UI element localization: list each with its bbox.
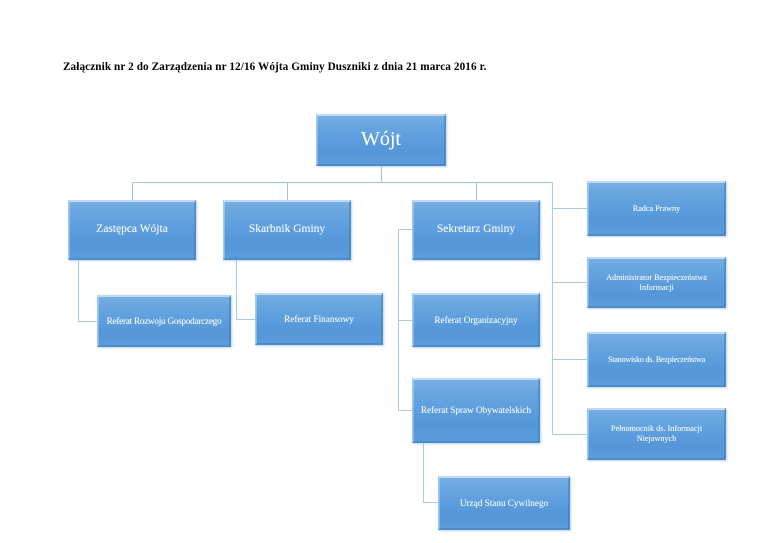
node-referat-finansowy[interactable]: Referat Finansowy <box>255 293 383 345</box>
node-referat-rozwoju-gospodarczego[interactable]: Referat Rozwoju Gospodarczego <box>97 295 231 347</box>
node-urzad-stanu-cywilnego-label: Urząd Stanu Cywilnego <box>439 498 569 509</box>
node-administrator-bezpieczenstwa-informacji[interactable]: Administrator Bezpieczeństwa Informacji <box>587 257 726 308</box>
node-referat-organizacyjny-label: Referat Organizacyjny <box>413 315 539 326</box>
edge-zastepca-rrg <box>79 261 98 322</box>
node-radca-prawny-label: Radca Prawny <box>588 204 725 214</box>
node-referat-spraw-obywatelskich[interactable]: Referat Spraw Obywatelskich <box>412 378 540 443</box>
page-canvas: Załącznik nr 2 do Zarządzenia nr 12/16 W… <box>0 0 768 543</box>
node-wojt[interactable]: Wójt <box>316 114 446 166</box>
edge-rso-usc <box>424 444 439 503</box>
node-referat-finansowy-label: Referat Finansowy <box>256 314 382 325</box>
node-referat-organizacyjny[interactable]: Referat Organizacyjny <box>412 293 540 347</box>
node-pelnomocnik-ds-informacji-niejawnych-label: Pełnomocnik ds. Informacji Niejawnych <box>588 424 725 443</box>
node-pelnomocnik-ds-informacji-niejawnych[interactable]: Pełnomocnik ds. Informacji Niejawnych <box>587 408 726 460</box>
node-sekretarz-gminy-label: Sekretarz Gminy <box>413 223 539 237</box>
node-referat-rozwoju-gospodarczego-label: Referat Rozwoju Gospodarczego <box>98 316 230 327</box>
node-stanowisko-ds-bezpieczenstwa-label: Stanowisko ds. Bezpieczeństwa <box>588 355 725 365</box>
node-sekretarz-gminy[interactable]: Sekretarz Gminy <box>412 200 540 260</box>
edge-skarbnik-rf <box>237 261 256 320</box>
node-radca-prawny[interactable]: Radca Prawny <box>587 181 726 236</box>
node-skarbnik-gminy[interactable]: Skarbnik Gminy <box>223 200 351 260</box>
node-referat-spraw-obywatelskich-label: Referat Spraw Obywatelskich <box>413 405 539 416</box>
node-administrator-bezpieczenstwa-informacji-label: Administrator Bezpieczeństwa Informacji <box>588 273 725 292</box>
node-skarbnik-gminy-label: Skarbnik Gminy <box>224 223 350 237</box>
node-zastepca-wojta-label: Zastępca Wójta <box>69 223 195 237</box>
node-wojt-label: Wójt <box>317 128 445 152</box>
node-urzad-stanu-cywilnego[interactable]: Urząd Stanu Cywilnego <box>438 476 570 530</box>
node-zastepca-wojta[interactable]: Zastępca Wójta <box>68 200 196 260</box>
org-chart: Wójt Zastępca Wójta Skarbnik Gminy Sekre… <box>0 0 768 543</box>
node-stanowisko-ds-bezpieczenstwa[interactable]: Stanowisko ds. Bezpieczeństwa <box>587 332 726 387</box>
